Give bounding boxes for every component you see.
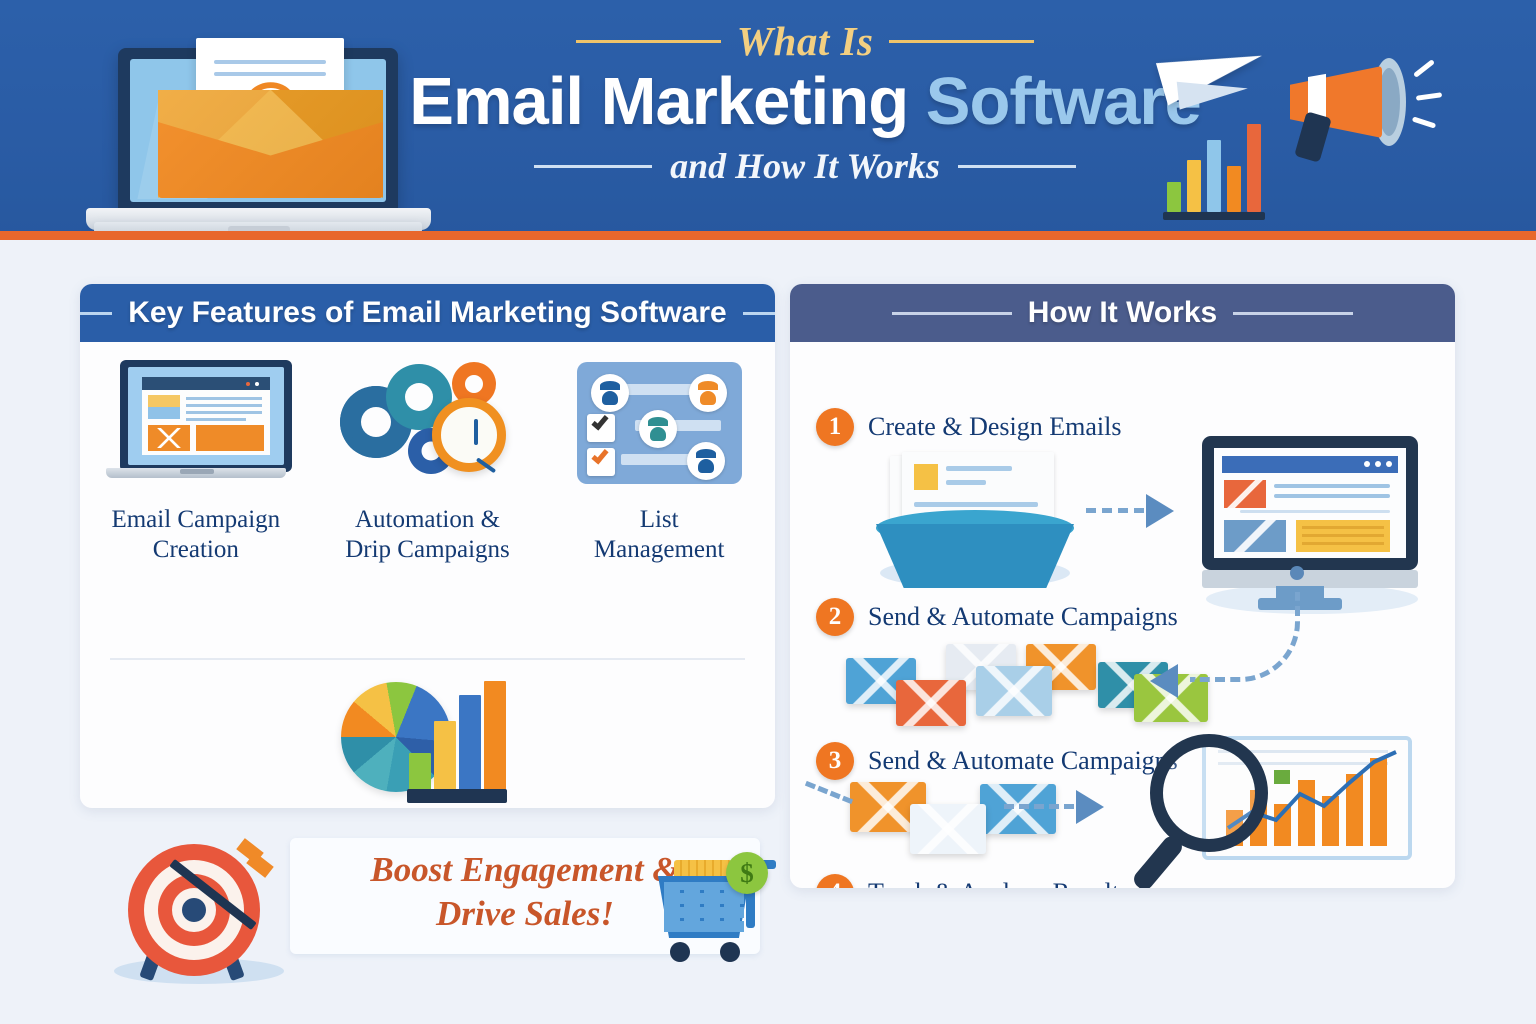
- title-kicker: What Is: [737, 17, 874, 65]
- contact-list-icon: [569, 356, 749, 491]
- step-2[interactable]: 2 Send & Automate Campaigns: [816, 598, 1178, 636]
- checkbox-checked-orange[interactable]: [587, 448, 615, 476]
- inbox-tray-icon: [872, 452, 1082, 592]
- feature-email-campaign-creation[interactable]: Email Campaign Creation: [80, 356, 312, 565]
- header-rule-left: [80, 312, 112, 315]
- subtitle-rule-right: [958, 165, 1076, 168]
- key-features-panel: Key Features of Email Marketing Software: [80, 284, 775, 808]
- paper-plane-icon: [1160, 30, 1280, 120]
- laptop-email-icon: [106, 356, 286, 491]
- title-rule-right: [889, 40, 1034, 43]
- step-label: Create & Design Emails: [868, 412, 1121, 442]
- how-it-works-panel: How It Works 1 Create & Design Emails: [790, 284, 1455, 888]
- feature-automation-drip-campaigns[interactable]: Automation & Drip Campaigns: [312, 356, 544, 565]
- step-3[interactable]: 3 Send & Automate Campaigns: [816, 742, 1178, 780]
- feature-label: Automation & Drip Campaigns: [345, 505, 510, 565]
- title-rule-left: [576, 40, 721, 43]
- right-panel-body: 1 Create & Design Emails: [790, 342, 1455, 888]
- step-number: 3: [816, 742, 854, 780]
- step-1[interactable]: 1 Create & Design Emails: [816, 408, 1121, 446]
- feature-label: Email Campaign Creation: [111, 505, 280, 565]
- cta-banner: Boost Engagement & Drive Sales! $: [110, 826, 780, 994]
- title-primary: Email Marketing: [409, 64, 908, 139]
- flow-arrow-head-3: [1076, 790, 1104, 824]
- flow-arrow-3-start: [805, 781, 853, 804]
- step-number: 2: [816, 598, 854, 636]
- bar-chart-icon: [1163, 118, 1265, 220]
- subtitle-rule-left: [534, 165, 652, 168]
- step-label: Track & Analyze Results: [868, 878, 1129, 888]
- flow-arrow-head-2: [1150, 664, 1178, 698]
- left-panel-title: Key Features of Email Marketing Software: [128, 296, 727, 330]
- laptop-envelope-icon: @: [78, 30, 448, 240]
- flow-arrow-head-1: [1146, 494, 1174, 528]
- flow-arrow-1: [1086, 508, 1144, 513]
- feature-analytics-reporting[interactable]: Analytics & Reporting: [80, 672, 775, 808]
- step-label: Send & Automate Campaigns: [868, 746, 1178, 776]
- shopping-cart-icon: $: [650, 846, 780, 974]
- step-number: 4: [816, 874, 854, 888]
- divider: [110, 658, 745, 660]
- monitor-preview-icon: [1192, 436, 1432, 616]
- flow-arrow-3: [1004, 804, 1074, 809]
- target-arrow-icon: [120, 842, 270, 982]
- feature-list-management[interactable]: List Management: [543, 356, 775, 565]
- dollar-coin-icon: $: [726, 852, 768, 894]
- header-banner: @ What Is Email Marketing Software and H…: [0, 0, 1536, 240]
- gears-clock-icon: [338, 356, 518, 491]
- step-label: Send & Automate Campaigns: [868, 602, 1178, 632]
- right-panel-title: How It Works: [1028, 296, 1217, 330]
- left-panel-body: Email Campaign Creation: [80, 342, 775, 808]
- header-rule-left: [892, 312, 1012, 315]
- pie-bar-chart-icon: [333, 672, 523, 807]
- header-rule-right: [743, 312, 775, 315]
- feature-row: Email Campaign Creation: [80, 356, 775, 565]
- right-panel-header: How It Works: [790, 284, 1455, 342]
- step-number: 1: [816, 408, 854, 446]
- magnifier-chart-icon: [1140, 732, 1420, 882]
- header-rule-right: [1233, 312, 1353, 315]
- megaphone-icon: [1272, 52, 1432, 164]
- feature-label: List Management: [594, 505, 725, 565]
- step-4[interactable]: 4 Track & Analyze Results: [816, 874, 1129, 888]
- page-subtitle: and How It Works: [670, 145, 940, 187]
- left-panel-header: Key Features of Email Marketing Software: [80, 284, 775, 342]
- flow-curve-2: [1190, 592, 1300, 682]
- checkbox-checked-dark[interactable]: [587, 414, 615, 442]
- page-title: What Is Email Marketing Software and How…: [405, 18, 1205, 187]
- envelopes-icon: [836, 642, 1186, 732]
